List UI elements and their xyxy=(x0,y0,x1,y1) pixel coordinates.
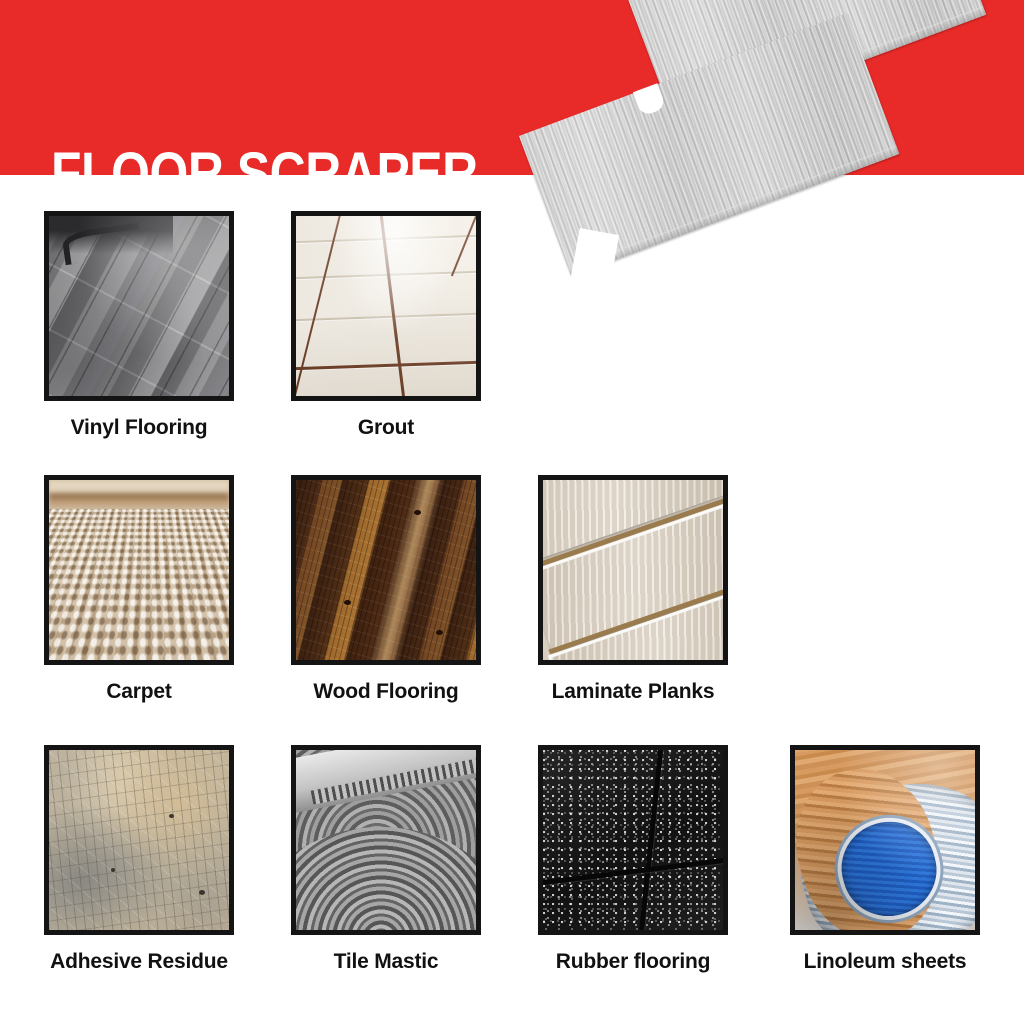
photo-frame xyxy=(44,211,234,401)
photo-frame xyxy=(44,745,234,935)
photo-frame xyxy=(538,745,728,935)
blade-corner-cut xyxy=(570,228,619,286)
photo-frame xyxy=(790,745,980,935)
blade-bevel-edge xyxy=(568,145,899,276)
floor-scraper-blades-image xyxy=(505,5,1024,405)
photo-linoleum-sheets xyxy=(795,750,975,930)
photo-vinyl-flooring xyxy=(49,216,229,396)
photo-frame xyxy=(291,211,481,401)
photo-frame xyxy=(291,475,481,665)
photo-frame xyxy=(44,475,234,665)
photo-frame xyxy=(291,745,481,935)
tile-label: Laminate Planks xyxy=(478,680,788,704)
photo-carpet xyxy=(49,480,229,660)
photo-tile-mastic xyxy=(296,750,476,930)
photo-frame xyxy=(538,475,728,665)
photo-adhesive-residue xyxy=(49,750,229,930)
photo-laminate-planks xyxy=(543,480,723,660)
tile-label: Grout xyxy=(231,416,541,440)
blade-notch xyxy=(633,83,666,116)
photo-rubber-flooring xyxy=(543,750,723,930)
photo-grout xyxy=(296,216,476,396)
tile-label: Linoleum sheets xyxy=(730,950,1024,974)
photo-wood-flooring xyxy=(296,480,476,660)
